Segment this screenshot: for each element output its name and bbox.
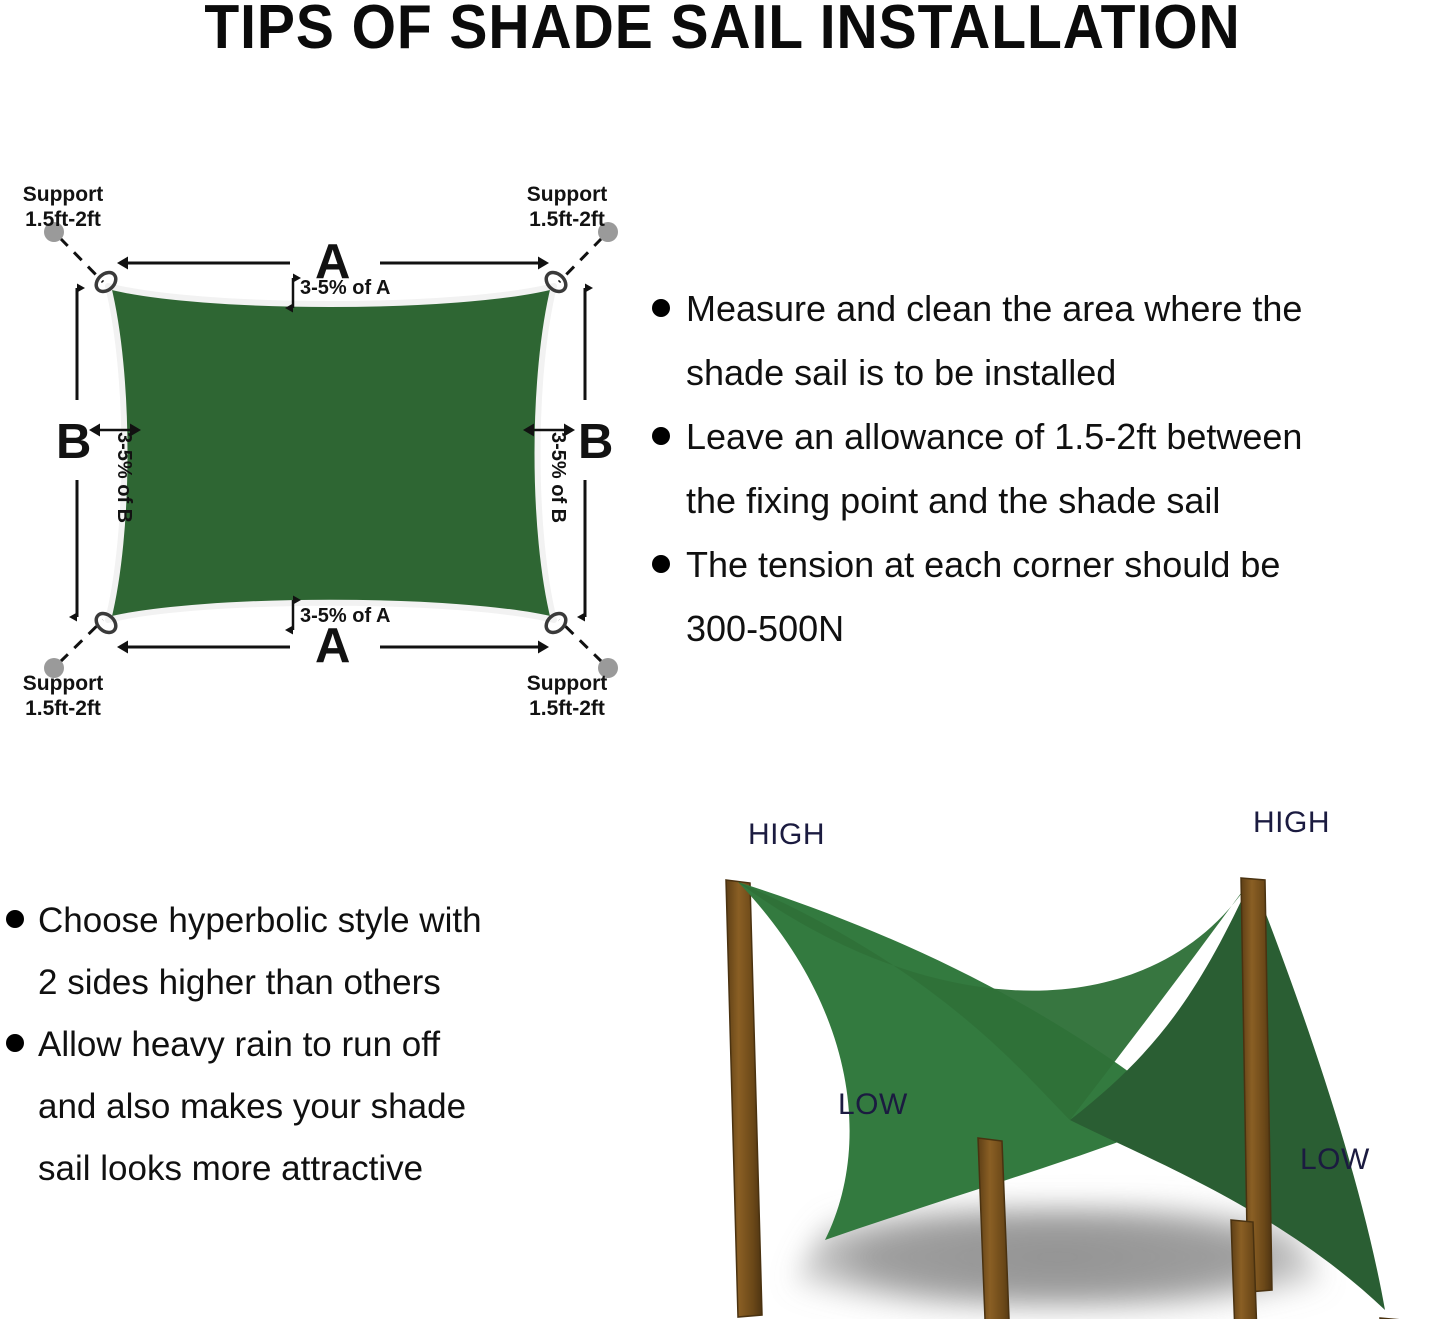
bullet-dot-icon: [652, 427, 670, 445]
list-item: Allow heavy rain to run off and also mak…: [6, 1014, 631, 1200]
dimension-letter-b-left: B: [56, 418, 91, 467]
list-item-text: The tension at each corner should be 300…: [686, 533, 1445, 661]
page-title: TIPS OF SHADE SAIL INSTALLATION: [58, 0, 1387, 60]
list-item-text: Measure and clean the area where the sha…: [686, 277, 1445, 405]
dimension-letter-a-bottom: A: [315, 622, 350, 671]
support-label-bottom-left: Support 1.5ft-2ft: [0, 671, 138, 721]
list-item: Leave an allowance of 1.5-2ft between th…: [652, 405, 1445, 533]
label-low-left: LOW: [838, 1088, 908, 1122]
list-item: The tension at each corner should be 300…: [652, 533, 1445, 661]
label-low-right: LOW: [1300, 1143, 1370, 1177]
label-high-left: HIGH: [748, 818, 825, 852]
bullet-dot-icon: [652, 555, 670, 573]
curve-label-right: 3-5% of B: [546, 432, 569, 523]
hyperbolic-sail-diagram-svg: [640, 790, 1445, 1319]
sail-fabric-shape: [108, 286, 554, 620]
list-item-text: Choose hyperbolic style with 2 sides hig…: [38, 890, 631, 1014]
curve-label-left: 3-5% of B: [112, 432, 135, 523]
curve-label-top: 3-5% of A: [300, 277, 390, 300]
bullet-dot-icon: [652, 299, 670, 317]
curve-label-bottom: 3-5% of A: [300, 605, 390, 628]
list-item-text: Allow heavy rain to run off and also mak…: [38, 1014, 631, 1200]
bullet-dot-icon: [6, 910, 24, 928]
support-label-top-right: Support 1.5ft-2ft: [492, 182, 642, 232]
installation-tips-list-right: Measure and clean the area where the sha…: [652, 277, 1445, 661]
list-item: Choose hyperbolic style with 2 sides hig…: [6, 890, 631, 1014]
infographic-page: TIPS OF SHADE SAIL INSTALLATION: [0, 0, 1445, 1319]
support-label-bottom-right: Support 1.5ft-2ft: [492, 671, 642, 721]
sail-panel-light: [738, 882, 1185, 1240]
post-high-left: [726, 880, 762, 1317]
label-high-right: HIGH: [1253, 806, 1330, 840]
installation-tips-list-left: Choose hyperbolic style with 2 sides hig…: [6, 890, 631, 1200]
support-label-top-left: Support 1.5ft-2ft: [0, 182, 138, 232]
list-item-text: Leave an allowance of 1.5-2ft between th…: [686, 405, 1445, 533]
bullet-dot-icon: [6, 1034, 24, 1052]
list-item: Measure and clean the area where the sha…: [652, 277, 1445, 405]
dimension-letter-b-right: B: [578, 418, 613, 467]
